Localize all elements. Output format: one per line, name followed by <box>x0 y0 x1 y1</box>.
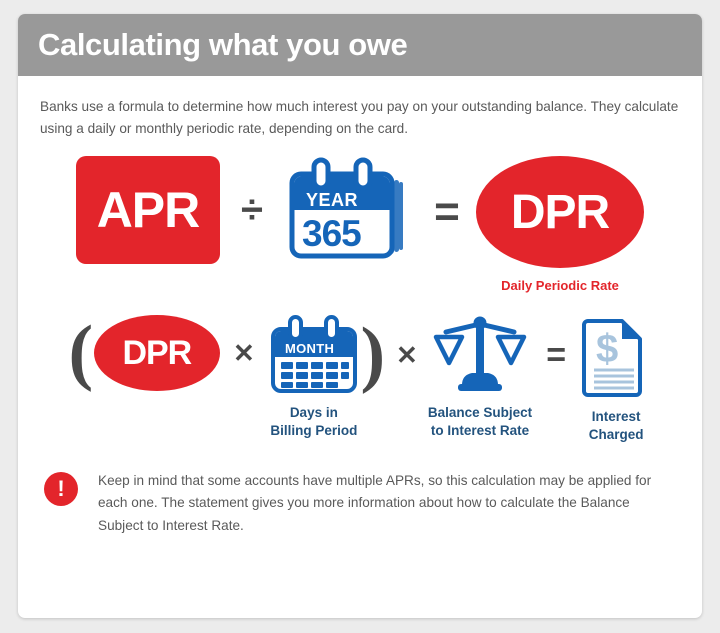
multiply-icon-two: ✕ <box>386 315 428 395</box>
dpr-red-ellipse: DPR <box>476 156 644 268</box>
balance-scales-group: Balance Subject to Interest Rate <box>428 315 532 440</box>
formula-row-one: APR ÷ YE <box>18 156 702 293</box>
equals-operator-cell-one: = <box>418 156 476 268</box>
multiply-icon-one: ✕ <box>220 315 268 391</box>
calendar-month-caption: Days in Billing Period <box>270 404 357 440</box>
page-title: Calculating what you owe <box>38 27 407 63</box>
multiply-operator-cell-two: ✕ <box>386 315 428 395</box>
dpr-label-small: DPR <box>122 334 191 373</box>
calendar-month-icon: MONTH <box>268 315 360 395</box>
divide-operator-cell: ÷ <box>220 156 284 264</box>
balance-scales-caption-line2: to Interest Rate <box>428 422 532 440</box>
equals-operator-cell-two: = <box>532 315 580 395</box>
note-text: Keep in mind that some accounts have mul… <box>98 470 678 536</box>
apr-label: APR <box>97 181 200 239</box>
document-dollar-symbol: $ <box>596 327 618 371</box>
dpr-label: DPR <box>511 185 609 240</box>
apr-group: APR <box>76 156 220 264</box>
divide-icon: ÷ <box>220 156 284 264</box>
intro-paragraph: Banks use a formula to determine how muc… <box>40 96 680 140</box>
document-dollar-icon: $ <box>580 315 652 399</box>
header-bar: Calculating what you owe <box>18 14 702 76</box>
paren-open: ( <box>68 320 94 385</box>
calendar-year-group: YEAR 365 <box>284 156 418 268</box>
paren-open-cell: ( <box>68 315 94 391</box>
exclamation-glyph: ! <box>57 478 64 500</box>
calendar-year-value-text: 365 <box>302 213 361 254</box>
calendar-month-caption-line1: Days in <box>270 404 357 422</box>
balance-scales-caption-line1: Balance Subject <box>428 404 532 422</box>
dpr-caption: Daily Periodic Rate <box>501 278 619 293</box>
document-caption-line2: Charged <box>589 426 644 444</box>
calendar-month-caption-line2: Billing Period <box>270 422 357 440</box>
exclamation-icon: ! <box>44 472 78 506</box>
paren-close-cell: ) <box>360 315 386 395</box>
note-block: ! Keep in mind that some accounts have m… <box>44 470 678 536</box>
balance-scales-icon <box>432 315 528 395</box>
dpr-group-one: DPR Daily Periodic Rate <box>476 156 644 293</box>
calendar-year-header-text: YEAR <box>306 190 358 210</box>
apr-red-box: APR <box>76 156 220 264</box>
calendar-month-group: MONTH <box>268 315 360 440</box>
paren-close: ) <box>360 322 386 387</box>
equals-icon: = <box>418 156 476 268</box>
calendar-year-icon: YEAR 365 <box>284 156 418 268</box>
formula-row-two: ( DPR ✕ MONTH <box>18 315 702 444</box>
document-group: $ Interest Charged <box>580 315 652 444</box>
infographic-card: Calculating what you owe Banks use a for… <box>18 14 702 618</box>
document-caption-line1: Interest <box>589 408 644 426</box>
dpr-red-ellipse-small: DPR <box>94 315 220 391</box>
balance-scales-caption: Balance Subject to Interest Rate <box>428 404 532 440</box>
equals-icon-two: = <box>532 315 580 395</box>
dpr-group-two: DPR <box>94 315 220 391</box>
calendar-month-header-text: MONTH <box>285 341 334 356</box>
document-caption: Interest Charged <box>589 408 644 444</box>
multiply-operator-cell-one: ✕ <box>220 315 268 391</box>
